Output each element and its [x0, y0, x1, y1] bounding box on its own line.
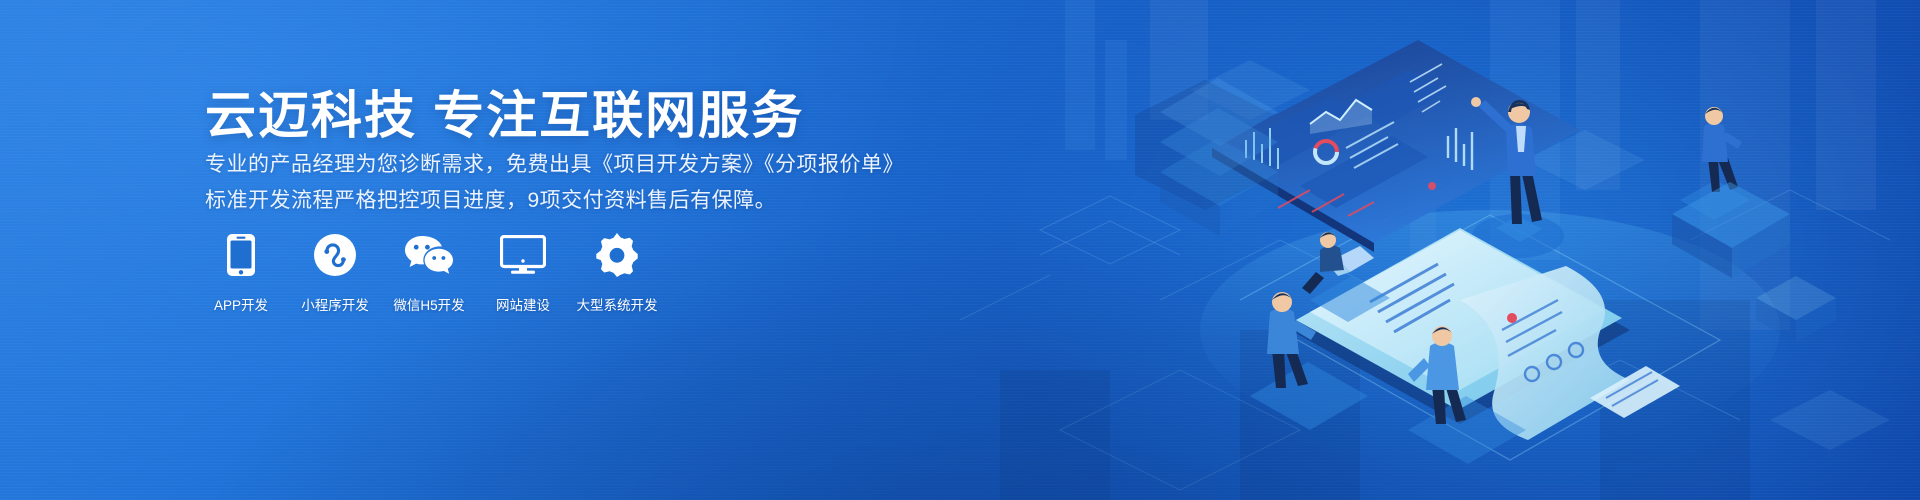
walking-person [1672, 107, 1790, 278]
service-item-large-system[interactable]: 大型系统开发 [581, 232, 653, 314]
service-label: 大型系统开发 [577, 294, 658, 314]
service-label: 微信H5开发 [393, 294, 464, 314]
hero-banner: 云迈科技 专注互联网服务 专业的产品经理为您诊断需求，免费出具《项目开发方案》《… [0, 0, 1920, 500]
page-title: 云迈科技 专注互联网服务 [205, 74, 804, 148]
mini-program-icon [313, 232, 357, 278]
isometric-data-dashboard-illustration [1160, 0, 1920, 500]
service-list: APP开发 小程序开发 [205, 232, 653, 314]
monitor-icon [500, 232, 546, 278]
wechat-icon [404, 232, 454, 278]
service-label: 小程序开发 [301, 294, 369, 314]
service-label: 网站建设 [496, 294, 550, 314]
service-item-mini-program[interactable]: 小程序开发 [299, 232, 371, 314]
service-label: APP开发 [214, 294, 268, 314]
service-item-website[interactable]: 网站建设 [487, 232, 559, 314]
subtitle-line-1: 专业的产品经理为您诊断需求，免费出具《项目开发方案》《分项报价单》 [205, 148, 904, 178]
illustration [1160, 0, 1920, 500]
mobile-phone-icon [226, 232, 256, 278]
service-item-wechat-h5[interactable]: 微信H5开发 [393, 232, 465, 314]
service-item-app[interactable]: APP开发 [205, 232, 277, 314]
gear-icon [595, 232, 639, 278]
banner-content: 云迈科技 专注互联网服务 专业的产品经理为您诊断需求，免费出具《项目开发方案》《… [205, 0, 965, 500]
subtitle-line-2: 标准开发流程严格把控项目进度，9项交付资料售后有保障。 [205, 184, 776, 214]
